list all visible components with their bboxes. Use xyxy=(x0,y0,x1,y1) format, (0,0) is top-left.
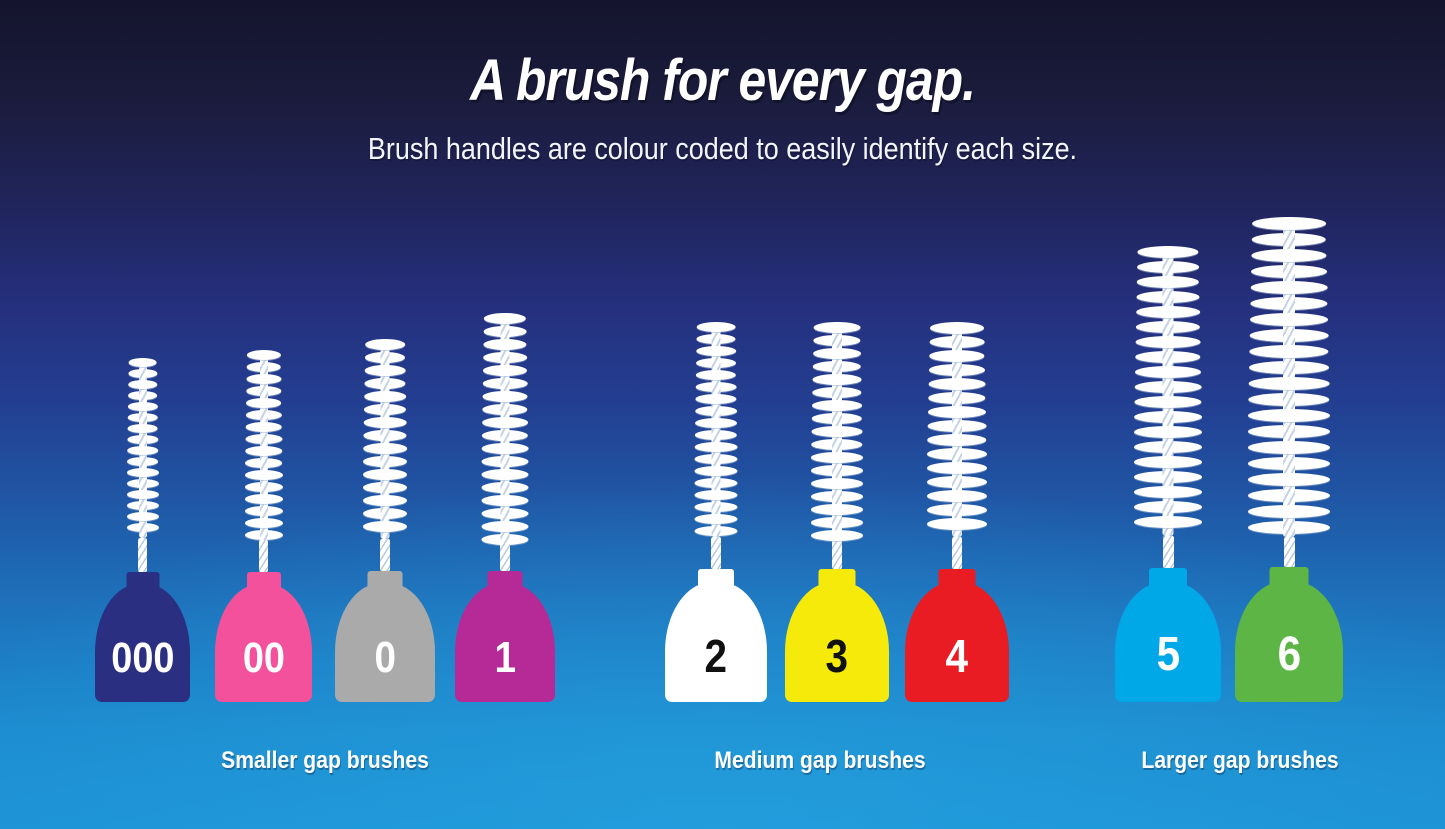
brush-handle-6[interactable]: 6 xyxy=(1235,567,1343,702)
bristle-disc xyxy=(1248,473,1330,486)
bristle-disc xyxy=(928,406,986,418)
bristle-disc xyxy=(811,530,863,541)
bristle-disc xyxy=(927,490,987,502)
brush-5[interactable]: 5 xyxy=(1115,246,1221,702)
bristle-disc xyxy=(813,348,861,359)
brush-size-label: 1 xyxy=(494,636,516,680)
brush-wire xyxy=(1284,537,1295,567)
bristle-disc xyxy=(812,400,862,411)
bristle-disc xyxy=(365,339,405,350)
bristle-disc xyxy=(813,374,862,385)
brush-wire xyxy=(138,538,147,572)
brush-wire xyxy=(259,540,268,572)
bristle-disc xyxy=(1251,281,1328,294)
bristle-disc xyxy=(1134,516,1202,528)
handle-body: 2 xyxy=(665,582,767,702)
bristle-disc xyxy=(128,358,157,367)
bristle-disc xyxy=(930,322,984,334)
bristle-disc xyxy=(1252,217,1326,230)
brush-size-label: 3 xyxy=(826,633,849,679)
group-caption-medium: Medium gap brushes xyxy=(670,747,969,775)
brush-wire xyxy=(711,537,721,569)
brush-handle-3[interactable]: 3 xyxy=(785,569,889,702)
brush-bristles xyxy=(695,322,738,537)
brush-bristles xyxy=(1134,246,1202,536)
handle-body: 0 xyxy=(335,583,435,702)
bristle-disc xyxy=(127,424,158,433)
brush-bristles xyxy=(927,322,987,537)
bristle-disc xyxy=(695,490,738,500)
brush-size-label: 000 xyxy=(111,637,174,680)
brush-wire xyxy=(832,537,842,569)
bristle-disc xyxy=(128,380,157,389)
bristle-disc xyxy=(482,469,529,480)
bristle-disc xyxy=(483,391,528,402)
brush-bristles xyxy=(363,339,407,539)
brush-000[interactable]: 000 xyxy=(95,358,190,702)
group-caption-smaller: Smaller gap brushes xyxy=(123,747,528,775)
bristle-disc xyxy=(1249,377,1330,390)
bristle-disc xyxy=(1134,456,1202,468)
brush-size-label: 4 xyxy=(946,633,969,679)
bristle-disc xyxy=(1134,396,1201,408)
bristle-disc xyxy=(245,446,282,456)
bristle-disc xyxy=(697,322,736,332)
brush-size-label: 00 xyxy=(242,637,284,680)
brush-3[interactable]: 3 xyxy=(785,322,889,702)
bristle-disc xyxy=(246,374,281,384)
brush-handle-2[interactable]: 2 xyxy=(665,569,767,702)
handle-body: 6 xyxy=(1235,581,1343,702)
bristle-disc xyxy=(484,313,526,324)
bristle-disc xyxy=(365,365,406,376)
bristle-disc xyxy=(1249,345,1328,358)
bristle-disc xyxy=(1137,276,1199,288)
bristle-disc xyxy=(1250,313,1328,326)
bristle-disc xyxy=(929,378,986,390)
handle-body: 3 xyxy=(785,582,889,702)
bristle-disc xyxy=(1134,426,1202,438)
bristle-disc xyxy=(364,391,406,402)
brush-handle-00[interactable]: 00 xyxy=(215,572,312,702)
bristle-disc xyxy=(127,490,159,499)
bristle-disc xyxy=(363,443,407,454)
bristle-disc xyxy=(127,402,157,411)
brush-handle-000[interactable]: 000 xyxy=(95,572,190,702)
bristle-disc xyxy=(812,426,863,437)
bristle-disc xyxy=(482,521,529,532)
bristle-disc xyxy=(1251,249,1326,262)
bristle-disc xyxy=(929,350,984,362)
poster-canvas: A brush for every gap. Brush handles are… xyxy=(0,0,1445,829)
brush-4[interactable]: 4 xyxy=(905,322,1009,702)
bristle-disc xyxy=(811,452,863,463)
page-title: A brush for every gap. xyxy=(101,52,1344,110)
bristle-disc xyxy=(1135,366,1201,378)
brush-size-label: 2 xyxy=(705,633,728,679)
bristle-disc xyxy=(811,478,863,489)
brush-size-label: 0 xyxy=(374,636,396,680)
bristle-disc xyxy=(483,339,526,350)
bristle-disc xyxy=(245,470,283,480)
bristle-disc xyxy=(927,462,987,474)
bristle-disc xyxy=(363,495,407,506)
bristle-disc xyxy=(245,518,283,528)
bristle-disc xyxy=(246,350,280,360)
bristle-disc xyxy=(1136,306,1200,318)
bristle-disc xyxy=(814,322,861,333)
bristle-disc xyxy=(1134,486,1202,498)
bristle-disc xyxy=(482,443,529,454)
bristle-disc xyxy=(695,514,738,524)
group-caption-larger: Larger gap brushes xyxy=(1095,747,1385,775)
bristle-disc xyxy=(695,442,738,452)
page-subtitle: Brush handles are colour coded to easily… xyxy=(94,133,1351,164)
brush-bristles xyxy=(245,350,283,540)
handle-body: 000 xyxy=(95,584,190,702)
brush-handle-5[interactable]: 5 xyxy=(1115,568,1221,702)
bristle-disc xyxy=(695,466,738,476)
bristle-disc xyxy=(245,494,283,504)
brush-bristles xyxy=(127,358,159,538)
bristle-disc xyxy=(695,394,736,404)
handle-body: 5 xyxy=(1115,582,1221,702)
brush-0[interactable]: 0 xyxy=(335,339,435,702)
brush-6[interactable]: 6 xyxy=(1235,217,1343,702)
brush-bristles xyxy=(811,322,863,537)
bristle-disc xyxy=(1137,246,1198,258)
bristle-disc xyxy=(483,365,527,376)
bristle-disc xyxy=(811,504,863,515)
bristle-disc xyxy=(1248,441,1330,454)
brush-wire xyxy=(952,537,962,569)
brush-size-label: 6 xyxy=(1277,631,1300,679)
bristle-disc xyxy=(127,446,159,455)
handle-body: 4 xyxy=(905,582,1009,702)
bristle-disc xyxy=(246,398,282,408)
handle-body: 1 xyxy=(455,583,555,702)
brush-size-label: 5 xyxy=(1156,631,1179,679)
header-block: A brush for every gap. Brush handles are… xyxy=(0,52,1445,164)
brush-handle-0[interactable]: 0 xyxy=(335,571,435,702)
bristle-disc xyxy=(927,434,986,446)
bristle-disc xyxy=(127,468,159,477)
bristle-disc xyxy=(1136,336,1201,348)
bristle-disc xyxy=(696,346,736,356)
brush-00[interactable]: 00 xyxy=(215,350,312,702)
bristle-disc xyxy=(363,521,407,532)
bristle-disc xyxy=(1248,505,1330,518)
brush-handle-4[interactable]: 4 xyxy=(905,569,1009,702)
brush-bristles xyxy=(482,313,529,541)
bristle-disc xyxy=(482,495,529,506)
handle-body: 00 xyxy=(215,584,312,702)
bristle-disc xyxy=(482,417,528,428)
brush-wire xyxy=(500,541,510,571)
brush-2[interactable]: 2 xyxy=(665,322,767,702)
bristle-disc xyxy=(1248,409,1330,422)
bristle-disc xyxy=(695,418,737,428)
bristle-disc xyxy=(127,512,159,521)
bristle-disc xyxy=(927,518,987,530)
brush-bristles xyxy=(1248,217,1330,537)
bristle-disc xyxy=(245,422,282,432)
bristle-disc xyxy=(696,370,736,380)
brush-wire xyxy=(1163,536,1174,568)
bristle-disc xyxy=(364,417,407,428)
bristle-disc xyxy=(363,469,407,480)
brush-handle-1[interactable]: 1 xyxy=(455,571,555,702)
brush-1[interactable]: 1 xyxy=(455,313,555,702)
brush-wire xyxy=(380,539,390,571)
